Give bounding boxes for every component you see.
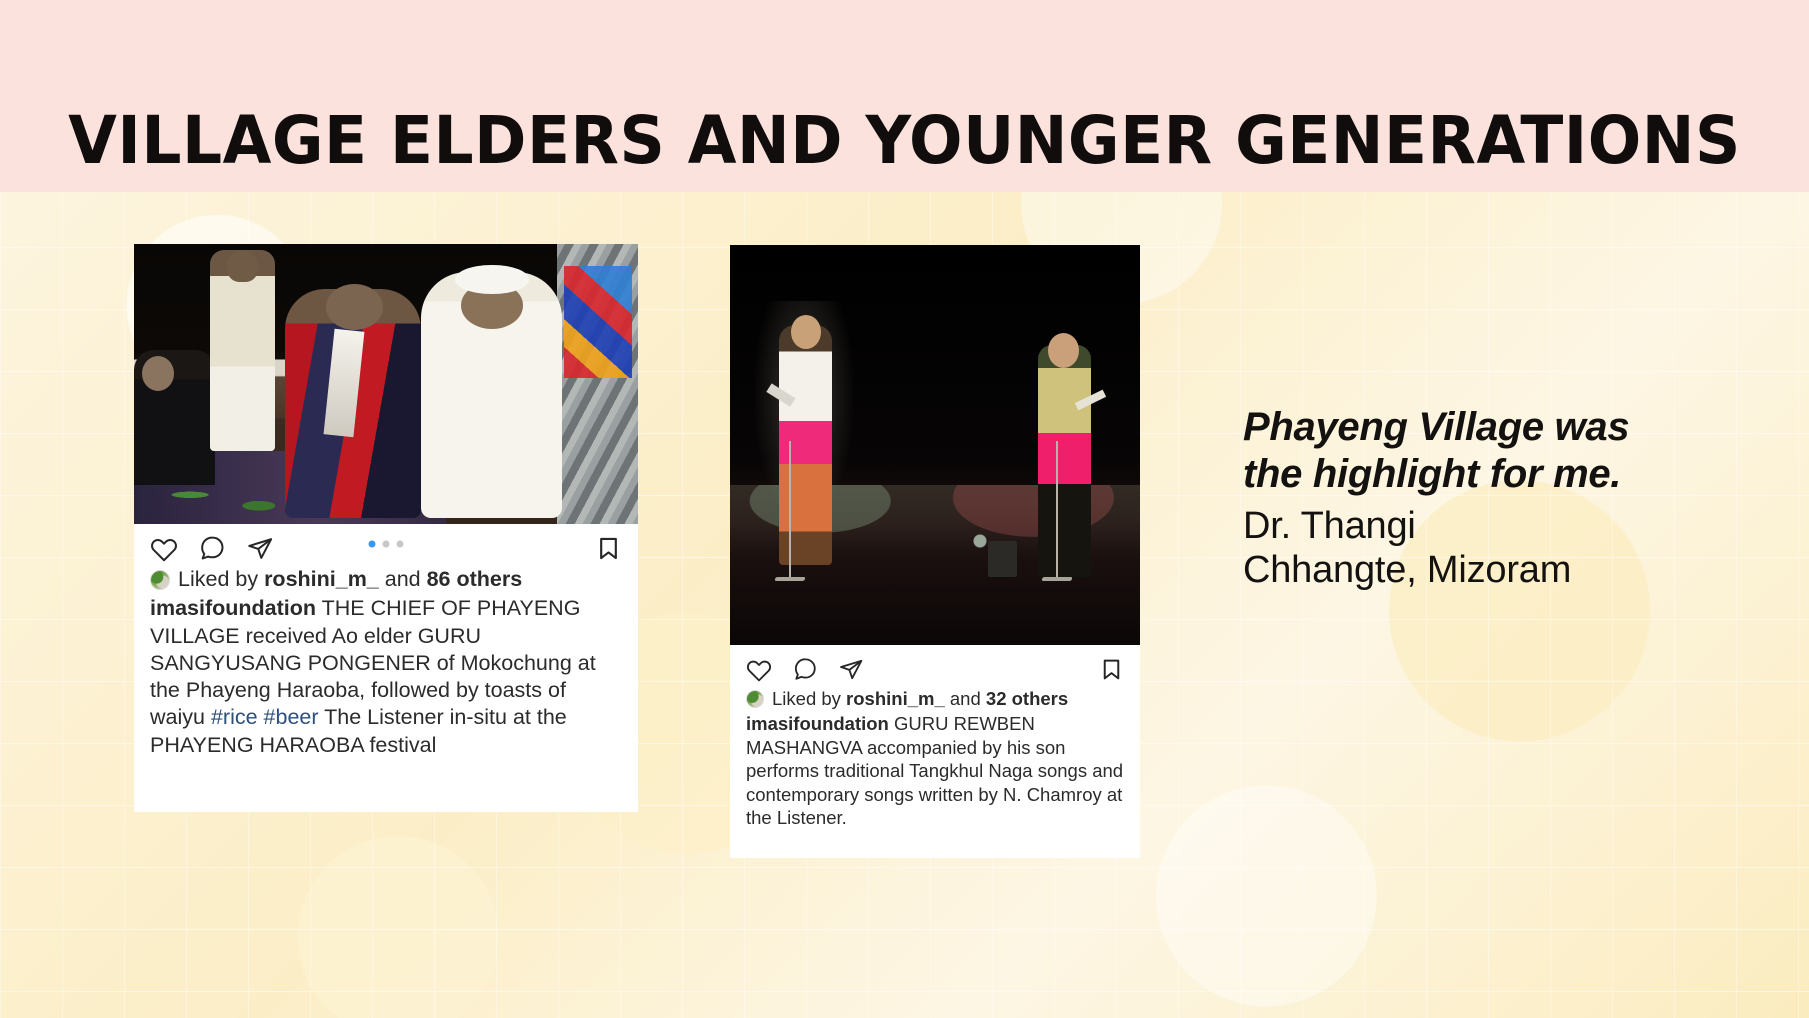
bamboo-wall	[557, 244, 638, 524]
heart-icon[interactable]	[150, 534, 178, 562]
share-icon[interactable]	[246, 534, 274, 562]
performer-left	[779, 325, 832, 565]
carousel-dot-1[interactable]	[369, 541, 376, 548]
photo-elders-scene	[134, 244, 638, 524]
performer-right	[1038, 345, 1091, 577]
hashtag-beer[interactable]: #beer	[264, 705, 319, 729]
post-2-account-name[interactable]: imasifoundation	[746, 713, 889, 734]
stage-amplifier	[988, 541, 1017, 577]
post-1-caption-body: imasifoundation THE CHIEF OF PHAYENG VIL…	[150, 595, 622, 759]
carousel-dot-2[interactable]	[383, 541, 390, 548]
carousel-dot-3[interactable]	[397, 541, 404, 548]
post-2-caption: Liked by roshini_m_ and 32 others imasif…	[730, 685, 1140, 844]
bookmark-icon[interactable]	[1099, 657, 1124, 682]
post-1-photo[interactable]	[134, 244, 638, 524]
instagram-post-card-1[interactable]: Liked by roshini_m_ and 86 others imasif…	[134, 244, 638, 812]
instagram-post-card-2[interactable]: Liked by roshini_m_ and 32 others imasif…	[730, 245, 1140, 858]
avatar	[746, 690, 764, 708]
hashtag-rice[interactable]: #rice	[211, 705, 258, 729]
quote-attribution-line-2: Chhangte, Mizoram	[1243, 548, 1673, 592]
post-1-action-bar	[134, 524, 638, 564]
post-2-photo[interactable]	[730, 245, 1140, 645]
liked-by-middle: and	[945, 688, 986, 709]
liked-by-others-count[interactable]: 86 others	[427, 567, 523, 591]
post-1-account-name[interactable]: imasifoundation	[150, 596, 316, 620]
page-title: VILLAGE ELDERS AND YOUNGER GENERATIONS	[0, 44, 1809, 236]
liked-by-prefix: Liked by	[772, 688, 846, 709]
liked-by-username[interactable]: roshini_m_	[264, 567, 379, 591]
microphone-stand-right	[1056, 441, 1058, 577]
post-2-action-bar	[730, 645, 1140, 685]
seated-crowd	[134, 350, 215, 484]
quote-text: Phayeng Village was the highlight for me…	[1243, 404, 1673, 498]
photo-stage-scene	[730, 245, 1140, 645]
share-icon[interactable]	[838, 656, 864, 682]
standing-man	[210, 250, 276, 452]
liked-by-middle: and	[379, 567, 427, 591]
liked-by-others-count[interactable]: 32 others	[986, 688, 1068, 709]
liked-by-text: Liked by roshini_m_ and 86 others	[178, 566, 522, 593]
bookmark-icon[interactable]	[595, 535, 622, 562]
post-2-liked-by-row: Liked by roshini_m_ and 32 others	[746, 687, 1124, 710]
post-1-caption: Liked by roshini_m_ and 86 others imasif…	[134, 564, 638, 773]
heart-icon[interactable]	[746, 656, 772, 682]
slide-root: VILLAGE ELDERS AND YOUNGER GENERATIONS	[0, 0, 1809, 1018]
liked-by-text: Liked by roshini_m_ and 32 others	[772, 687, 1068, 710]
quote-attribution-line-1: Dr. Thangi	[1243, 504, 1673, 548]
post-2-caption-body: imasifoundation GURU REWBEN MASHANGVA ac…	[746, 712, 1124, 829]
post-1-liked-by-row: Liked by roshini_m_ and 86 others	[150, 566, 622, 593]
liked-by-username[interactable]: roshini_m_	[846, 688, 945, 709]
avatar	[150, 570, 170, 590]
chief-of-phayeng	[285, 289, 421, 519]
carousel-dots	[369, 541, 404, 548]
comment-icon[interactable]	[198, 534, 226, 562]
comment-icon[interactable]	[792, 656, 818, 682]
ao-elder-guru	[421, 272, 562, 518]
liked-by-prefix: Liked by	[178, 567, 264, 591]
microphone-stand-left	[789, 441, 791, 577]
pull-quote: Phayeng Village was the highlight for me…	[1243, 404, 1673, 593]
